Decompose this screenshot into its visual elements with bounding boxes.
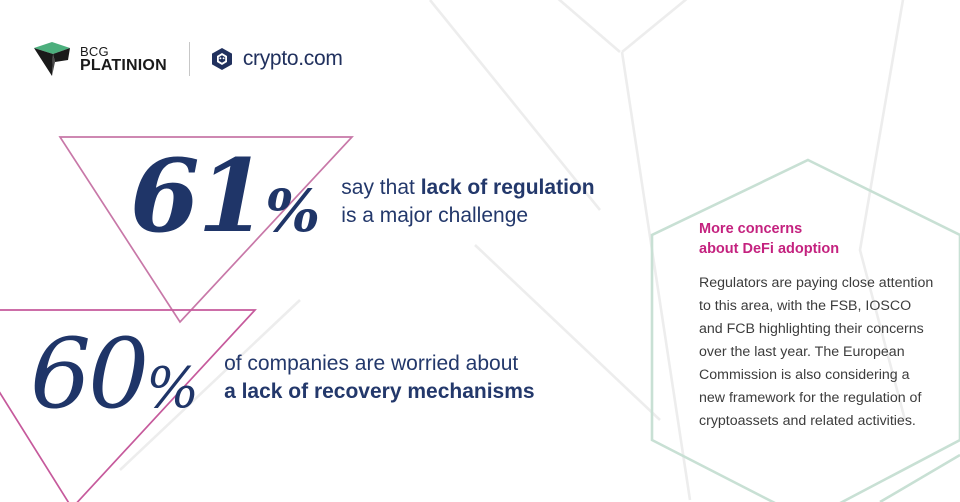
logo-bar: BCG PLATINION crypto.com — [32, 36, 343, 82]
stat-number-60: 60% — [30, 330, 198, 418]
callout-title-line1: More concerns — [699, 221, 802, 237]
bcg-diamond-icon — [32, 40, 72, 78]
stat-block-61: 61% say that lack of regulation is a maj… — [130, 150, 595, 242]
stat-caption-61-lead: say that — [341, 176, 420, 199]
crypto-lion-icon — [210, 47, 234, 71]
stat-value-61: 61 — [130, 137, 265, 255]
callout-defi-adoption: More concerns about DeFi adoption Regula… — [699, 220, 937, 433]
stat-percent-61: % — [265, 177, 319, 245]
stat-caption-60-bold: a lack of recovery mechanisms — [224, 380, 535, 403]
crypto-com-wordmark: crypto.com — [243, 47, 343, 71]
stat-percent-60: % — [146, 356, 198, 421]
callout-body: Regulators are paying close attention to… — [699, 272, 937, 433]
stat-value-60: 60 — [30, 318, 146, 430]
callout-title-line2: about DeFi adoption — [699, 241, 839, 257]
bcg-name-line1: BCG — [80, 45, 167, 58]
bcg-platinion-logo: BCG PLATINION — [32, 40, 167, 78]
stat-caption-60: of companies are worried about a lack of… — [224, 350, 535, 406]
stat-caption-61-tail: is a major challenge — [341, 204, 528, 227]
green-hexagon-partial-lines — [880, 455, 960, 502]
stat-number-61: 61% — [130, 150, 319, 242]
stat-caption-61-bold: lack of regulation — [421, 176, 595, 199]
bcg-name-line2: PLATINION — [80, 58, 167, 74]
stat-caption-60-lead: of companies are worried about — [224, 352, 518, 375]
logo-divider — [189, 42, 190, 76]
crypto-com-logo: crypto.com — [210, 47, 343, 71]
stat-block-60: 60% of companies are worried about a lac… — [30, 330, 535, 418]
bcg-wordmark: BCG PLATINION — [80, 45, 167, 74]
infographic-canvas: BCG PLATINION crypto.com 61% say that la… — [0, 0, 960, 502]
callout-title: More concerns about DeFi adoption — [699, 220, 937, 259]
stat-caption-61: say that lack of regulation is a major c… — [341, 174, 594, 230]
